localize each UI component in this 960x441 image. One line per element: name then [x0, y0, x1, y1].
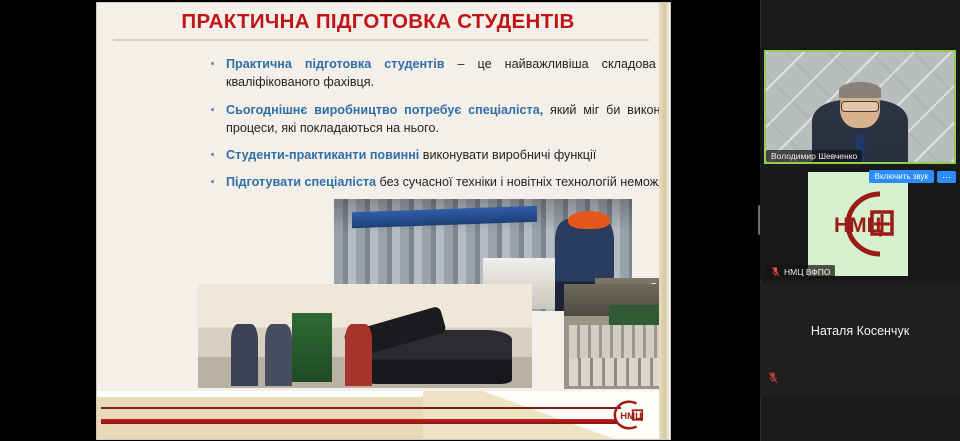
bullet-item: Студенти-практиканти повинні виконувати …: [210, 146, 670, 164]
bullet-text: виконувати виробничі функції: [419, 148, 596, 162]
nmc-logo-icon: НМЦ: [808, 172, 908, 276]
shared-screen-area[interactable]: ПРАКТИЧНА ПІДГОТОВКА СТУДЕНТІВ Практична…: [0, 0, 760, 441]
participant-name: НМЦ ВФПО: [784, 267, 830, 277]
unmute-button[interactable]: Включить звук: [869, 170, 934, 183]
participant-name: Володимир Шевченко: [771, 151, 857, 161]
bullet-highlight: Підготувати спеціаліста: [226, 175, 376, 189]
title-divider: [113, 39, 649, 41]
more-options-button[interactable]: ···: [937, 171, 956, 183]
participant-strip: Володимир Шевченко НМЦ Включить звук ···: [760, 0, 960, 441]
slide-bullet-list: Практична підготовка студентів – це найв…: [210, 55, 670, 201]
bullet-highlight: Практична підготовка студентів: [226, 57, 444, 71]
presentation-slide: ПРАКТИЧНА ПІДГОТОВКА СТУДЕНТІВ Практична…: [97, 3, 670, 439]
nmc-logo-icon: НМЦ: [607, 396, 645, 434]
bullet-item: Сьогоднішнє виробництво потребує спеціал…: [210, 101, 670, 138]
active-speaker-border: [764, 50, 956, 164]
tile-hover-controls[interactable]: Включить звук ···: [869, 170, 956, 183]
meeting-window: ПРАКТИЧНА ПІДГОТОВКА СТУДЕНТІВ Практична…: [0, 0, 960, 441]
bullet-highlight: Студенти-практиканти повинні: [226, 148, 419, 162]
participant-tile-2[interactable]: НМЦ Включить звук ··· НМЦ ВФПО: [760, 168, 960, 280]
participant-tile-1[interactable]: Володимир Шевченко: [760, 48, 960, 164]
participant-name: Наталя Косенчук: [760, 324, 960, 338]
bullet-highlight: Сьогоднішнє виробництво потребує спеціал…: [226, 103, 543, 117]
mic-muted-icon: [771, 266, 780, 277]
participant-video-feed: НМЦ: [808, 172, 908, 276]
participant-name-badge: Володимир Шевченко: [766, 150, 862, 162]
participant-tile-3[interactable]: Наталя Косенчук: [760, 284, 960, 396]
slide-page-edge: [659, 3, 670, 439]
bullet-item: Практична підготовка студентів – це найв…: [210, 55, 670, 92]
participant-name-badge: НМЦ ВФПО: [766, 265, 835, 278]
bullet-item: Підготувати спеціаліста без сучасної тех…: [210, 173, 670, 191]
bullet-text: без сучасної техніки і новітніх технолог…: [376, 175, 670, 189]
slide-footer: НМЦ: [97, 391, 659, 439]
photo-auto-workshop: [198, 284, 532, 388]
photo-student-group: [564, 284, 670, 389]
slide-title: ПРАКТИЧНА ПІДГОТОВКА СТУДЕНТІВ: [97, 10, 659, 34]
mic-muted-icon: [768, 371, 778, 384]
